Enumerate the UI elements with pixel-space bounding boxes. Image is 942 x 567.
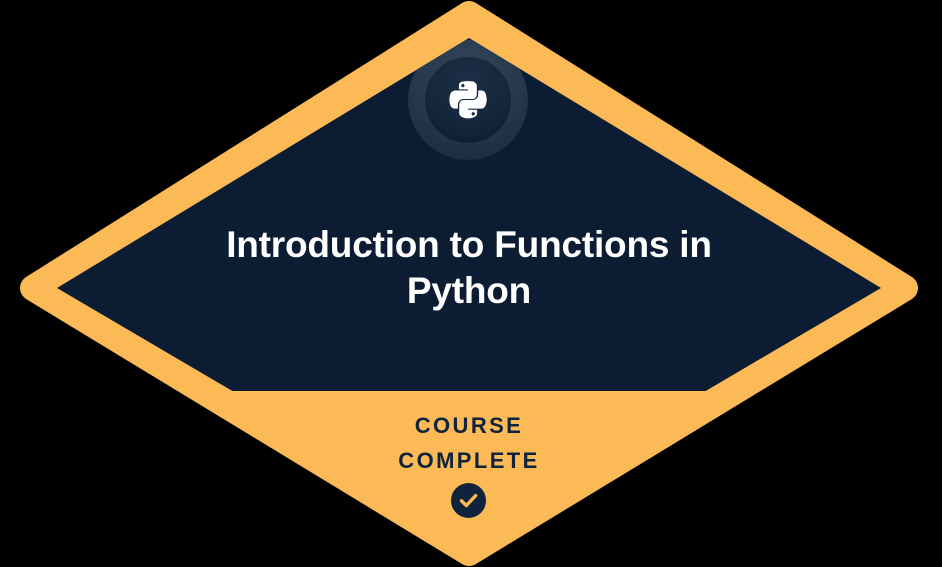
logo-ring-inner <box>425 57 511 143</box>
badge-graphic <box>0 0 942 567</box>
diamond-inner-panel <box>0 0 942 391</box>
badge-canvas: Introduction to Functions in Python COUR… <box>0 0 942 567</box>
